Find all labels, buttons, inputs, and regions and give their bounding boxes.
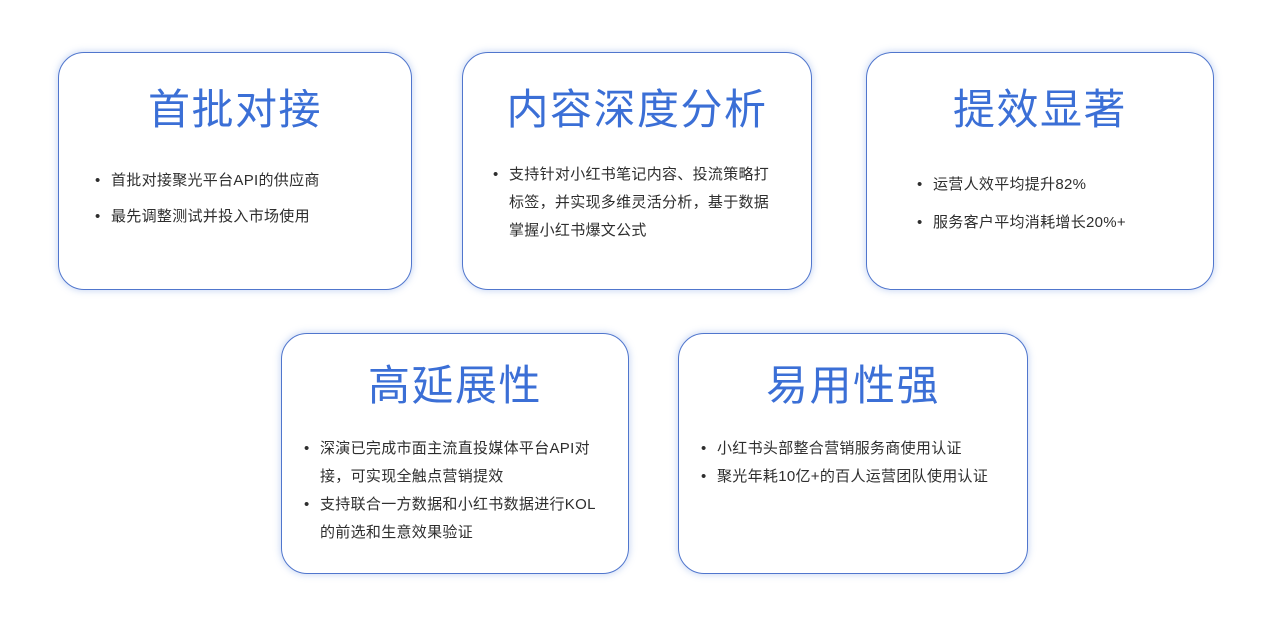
bullet-marker-icon: • <box>95 167 111 195</box>
list-item-text: 最先调整测试并投入市场使用 <box>111 203 391 231</box>
list-item-text: 运营人效平均提升82% <box>933 171 1193 199</box>
card-title: 高延展性 <box>282 365 628 407</box>
feature-card-content-depth-analysis: 内容深度分析 • 支持针对小红书笔记内容、投流策略打标签，并实现多维灵活分析，基… <box>462 52 812 290</box>
list-item: • 服务客户平均消耗增长20%+ <box>917 209 1193 237</box>
bullet-marker-icon: • <box>701 463 717 491</box>
list-item: • 深演已完成市面主流直投媒体平台API对接，可实现全触点营销提效 <box>304 435 614 491</box>
list-item-text: 支持针对小红书笔记内容、投流策略打标签，并实现多维灵活分析，基于数据掌握小红书爆… <box>509 161 781 245</box>
feature-card-efficiency-gains: 提效显著 • 运营人效平均提升82% • 服务客户平均消耗增长20%+ <box>866 52 1214 290</box>
card-title: 易用性强 <box>679 365 1027 407</box>
list-item: • 运营人效平均提升82% <box>917 171 1193 199</box>
card-bullet-list: • 小红书头部整合营销服务商使用认证 • 聚光年耗10亿+的百人运营团队使用认证 <box>679 435 1027 491</box>
bullet-marker-icon: • <box>493 161 509 189</box>
card-bullet-list: • 深演已完成市面主流直投媒体平台API对接，可实现全触点营销提效 • 支持联合… <box>282 435 628 547</box>
list-item-text: 支持联合一方数据和小红书数据进行KOL的前选和生意效果验证 <box>320 491 608 547</box>
list-item: • 支持联合一方数据和小红书数据进行KOL的前选和生意效果验证 <box>304 491 614 547</box>
bullet-marker-icon: • <box>304 435 320 463</box>
bullet-marker-icon: • <box>304 491 320 519</box>
bullet-marker-icon: • <box>917 209 933 237</box>
list-item-text: 聚光年耗10亿+的百人运营团队使用认证 <box>717 463 1003 491</box>
feature-cards-board: 首批对接 • 首批对接聚光平台API的供应商 • 最先调整测试并投入市场使用 内… <box>0 0 1280 625</box>
card-title: 首批对接 <box>59 89 411 131</box>
list-item-text: 小红书头部整合营销服务商使用认证 <box>717 435 1003 463</box>
list-item: • 首批对接聚光平台API的供应商 <box>95 167 391 195</box>
card-bullet-list: • 首批对接聚光平台API的供应商 • 最先调整测试并投入市场使用 <box>59 167 411 239</box>
bullet-marker-icon: • <box>917 171 933 199</box>
card-bullet-list: • 运营人效平均提升82% • 服务客户平均消耗增长20%+ <box>867 171 1213 247</box>
feature-card-first-integration: 首批对接 • 首批对接聚光平台API的供应商 • 最先调整测试并投入市场使用 <box>58 52 412 290</box>
list-item: • 支持针对小红书笔记内容、投流策略打标签，并实现多维灵活分析，基于数据掌握小红… <box>493 161 793 245</box>
list-item: • 聚光年耗10亿+的百人运营团队使用认证 <box>701 463 1013 491</box>
card-title: 提效显著 <box>867 89 1213 131</box>
feature-card-ease-of-use: 易用性强 • 小红书头部整合营销服务商使用认证 • 聚光年耗10亿+的百人运营团… <box>678 333 1028 574</box>
bullet-marker-icon: • <box>95 203 111 231</box>
card-bullet-list: • 支持针对小红书笔记内容、投流策略打标签，并实现多维灵活分析，基于数据掌握小红… <box>463 161 811 245</box>
list-item: • 最先调整测试并投入市场使用 <box>95 203 391 231</box>
list-item-text: 深演已完成市面主流直投媒体平台API对接，可实现全触点营销提效 <box>320 435 608 491</box>
list-item: • 小红书头部整合营销服务商使用认证 <box>701 435 1013 463</box>
list-item-text: 服务客户平均消耗增长20%+ <box>933 209 1193 237</box>
feature-card-high-extensibility: 高延展性 • 深演已完成市面主流直投媒体平台API对接，可实现全触点营销提效 •… <box>281 333 629 574</box>
bullet-marker-icon: • <box>701 435 717 463</box>
card-title: 内容深度分析 <box>463 89 811 131</box>
list-item-text: 首批对接聚光平台API的供应商 <box>111 167 391 195</box>
